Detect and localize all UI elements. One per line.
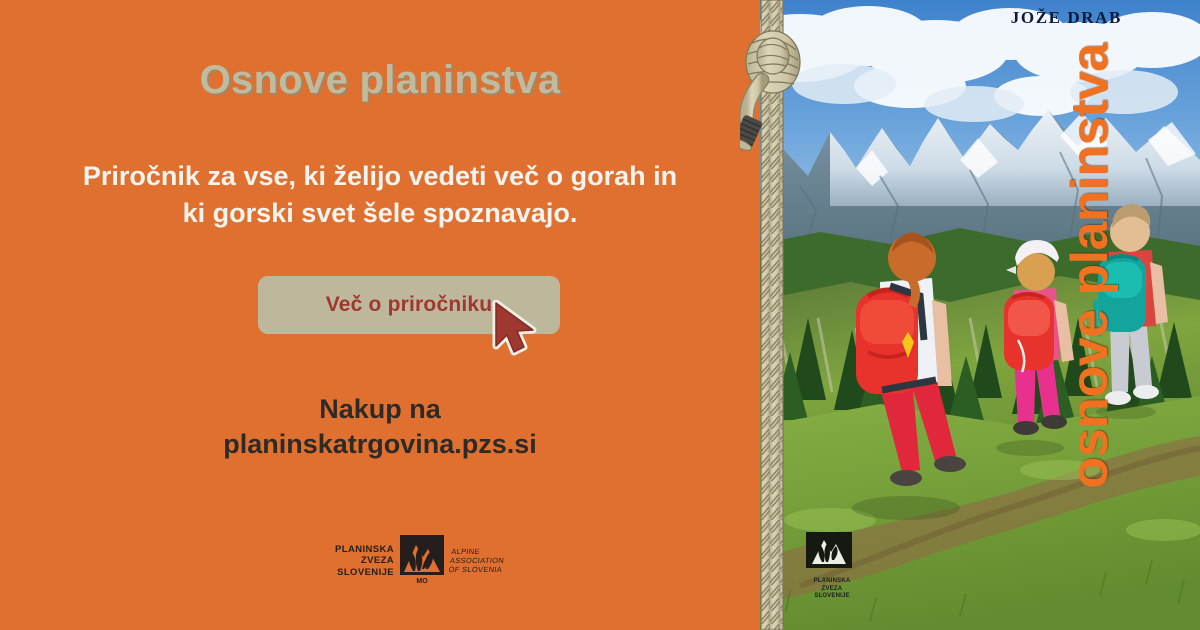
- subtitle-line-2: ki gorski svet šele spoznavajo.: [183, 198, 578, 228]
- page-title: Osnove planinstva: [0, 58, 760, 103]
- purchase-line-1: Nakup na: [319, 394, 441, 424]
- more-about-handbook-button[interactable]: Več o priročniku: [258, 276, 560, 334]
- pzs-logo-slovene-text: PLANINSKA ZVEZA SLOVENIJE: [335, 544, 394, 578]
- cta-container: Več o priročniku: [258, 276, 560, 334]
- svg-text:MO: MO: [416, 578, 428, 585]
- subtitle-line-1: Priročnik za vse, ki želijo vedeti več o…: [83, 161, 677, 191]
- spine-title: osnove planinstva: [1060, 0, 1120, 566]
- pzs-mountain-mark-icon: MO: [400, 535, 444, 587]
- purchase-shop-url[interactable]: planinskatrgovina.pzs.si: [223, 429, 537, 459]
- pzs-logo: PLANINSKA ZVEZA SLOVENIJE MO ALPINE ASSO…: [335, 533, 504, 589]
- book-promo-banner: JOŽE DRAB osnove planinstva PLANINSKA ZV…: [0, 0, 1200, 630]
- pzs-logo-small-text: PLANINSKA ZVEZA SLOVENIJE: [800, 578, 864, 601]
- purchase-info: Nakup na planinskatrgovina.pzs.si: [130, 392, 630, 462]
- pzs-logo-small: PLANINSKA ZVEZA SLOVENIJE: [800, 532, 864, 594]
- promo-left-panel: Osnove planinstva Priročnik za vse, ki ž…: [0, 0, 760, 630]
- pzs-logo-english-text: ALPINE ASSOCIATION OF SLOVENIA: [448, 547, 506, 574]
- subtitle-text: Priročnik za vse, ki želijo vedeti več o…: [80, 158, 680, 233]
